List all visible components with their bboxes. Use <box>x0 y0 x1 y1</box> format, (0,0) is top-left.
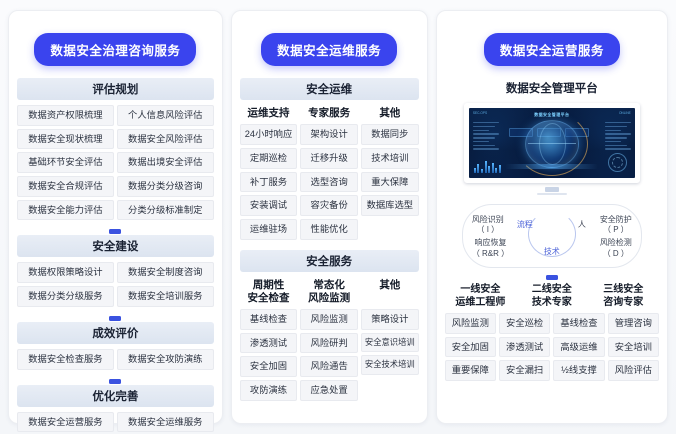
item-cell[interactable]: 架构设计 <box>300 124 358 145</box>
item-column: 数据同步 技术培训 重大保障 数据库选型 <box>361 124 419 216</box>
item-cell[interactable]: 安全巡检 <box>499 313 550 334</box>
item-column: 基线检查 渗透测试 安全加固 攻防演练 <box>240 309 298 401</box>
item-cell[interactable]: 安全培训 <box>608 337 659 358</box>
item-cell[interactable]: 基础环节安全评估 <box>17 152 114 173</box>
screen-bar-chart <box>474 159 501 173</box>
item-cell[interactable]: 数据分类分级咨询 <box>117 176 214 197</box>
item-cell[interactable]: 运维驻场 <box>240 219 298 240</box>
item-grid-security-construction: 数据权限策略设计 数据安全制度咨询 数据分类分级服务 数据安全培训服务 <box>17 262 214 306</box>
pdrr-response-recovery: 响应恢复 （ R&R ） <box>472 238 509 259</box>
team-tier-header: 二线安全 技术专家 <box>516 284 587 313</box>
item-cell[interactable]: 补丁服务 <box>240 172 298 193</box>
item-cell[interactable]: 重要保障 <box>445 360 496 381</box>
item-column: 管理咨询 安全培训 风险评估 <box>608 313 659 381</box>
pdrr-code: （ D ） <box>600 249 632 259</box>
screen-globe-icon <box>525 120 579 168</box>
panel-governance-consulting: 数据安全治理咨询服务 评估规划 数据资产权限梳理 个人信息风险评估 数据安全现状… <box>8 10 223 424</box>
item-cell[interactable]: 数据安全能力评估 <box>17 200 114 221</box>
item-cell[interactable]: 迁移升级 <box>300 148 358 169</box>
item-grid-security-services: 基线检查 渗透测试 安全加固 攻防演练 风险监测 风险研判 风险通告 应急处置 … <box>240 309 419 401</box>
pdrr-label: 安全防护 <box>600 215 632 224</box>
item-cell[interactable]: 数据安全制度咨询 <box>117 262 214 283</box>
screen-left-panels <box>473 122 499 150</box>
column-header: 常态化 风险监测 <box>300 277 358 309</box>
item-cell[interactable]: 性能优化 <box>300 219 358 240</box>
dashboard-screen: SEC-OPS ONLINE 数据安全管理平台 <box>469 108 635 178</box>
pdrr-label: 风险检测 <box>600 238 632 247</box>
pdrr-risk-identification: 风险识别 （ I ） <box>472 215 504 236</box>
item-column: 安全巡检 渗透测试 安全漏扫 <box>499 313 550 381</box>
item-cell[interactable]: ½线支撑 <box>553 360 604 381</box>
item-column: 24小时响应 定期巡检 补丁服务 安装调试 运维驻场 <box>240 124 298 239</box>
item-cell[interactable]: 策略设计 <box>361 309 419 330</box>
item-cell[interactable]: 基线检查 <box>553 313 604 334</box>
item-cell[interactable]: 安全加固 <box>240 356 298 377</box>
item-cell[interactable]: 安全漏扫 <box>499 360 550 381</box>
item-cell[interactable]: 数据分类分级服务 <box>17 286 114 307</box>
column-header: 其他 <box>361 277 419 296</box>
colheads-security-services: 周期性 安全检查 常态化 风险监测 其他 <box>240 277 419 309</box>
pdrr-process-label: 流程 <box>517 219 533 230</box>
item-cell[interactable]: 风险评估 <box>608 360 659 381</box>
item-cell[interactable]: 安装调试 <box>240 195 298 216</box>
panel-title-security-operations: 数据安全运营服务 <box>484 33 620 66</box>
panel-title-security-ops: 数据安全运维服务 <box>261 33 397 66</box>
item-cell[interactable]: 数据资产权限梳理 <box>17 105 114 126</box>
item-column: 基线检查 高级运维 ½线支撑 <box>553 313 604 381</box>
section-security-construction: 安全建设 数据权限策略设计 数据安全制度咨询 数据分类分级服务 数据安全培训服务 <box>17 224 214 306</box>
column-header: 周期性 安全检查 <box>240 277 298 309</box>
item-cell[interactable]: 安全意识培训 <box>361 333 419 353</box>
pdrr-protection: 安全防护 （ P ） <box>600 215 632 236</box>
monitor-stand <box>545 187 559 192</box>
screen-right-panels <box>605 122 631 150</box>
team-tier-header: 三线安全 咨询专家 <box>588 284 659 313</box>
pdrr-model-diagram: 风险识别 （ I ） 响应恢复 （ R&R ） 安全防护 （ P ） 风险检测 … <box>462 204 642 268</box>
item-cell[interactable]: 渗透测试 <box>499 337 550 358</box>
panel-title-governance: 数据安全治理咨询服务 <box>34 33 196 66</box>
group-security-maintenance: 安全运维 运维支持 专家服务 其他 24小时响应 定期巡检 补丁服务 安装调试 … <box>240 78 419 240</box>
screen-bottom-strip <box>505 164 598 169</box>
item-cell[interactable]: 数据库选型 <box>361 195 419 216</box>
platform-title: 数据安全管理平台 <box>506 80 598 96</box>
item-cell[interactable]: 数据安全运维服务 <box>117 412 214 433</box>
connector-marker-icon <box>546 275 558 280</box>
item-cell[interactable]: 选型咨询 <box>300 172 358 193</box>
monitor-base <box>537 193 567 195</box>
colheads-security-maintenance: 运维支持 专家服务 其他 <box>240 105 419 124</box>
pdrr-center-triangle: 流程 人 技术 <box>516 213 588 259</box>
item-grid-team-capabilities: 风险监测 安全加固 重要保障 安全巡检 渗透测试 安全漏扫 基线检查 高级运维 … <box>445 313 659 381</box>
item-cell[interactable]: 24小时响应 <box>240 124 298 145</box>
item-cell[interactable]: 数据安全检查服务 <box>17 349 114 370</box>
item-cell[interactable]: 风险通告 <box>300 356 358 377</box>
section-header-optimization: 优化完善 <box>17 385 214 407</box>
item-grid-assessment-planning: 数据资产权限梳理 个人信息风险评估 数据安全现状梳理 数据安全风险评估 基础环节… <box>17 105 214 220</box>
pdrr-label: 风险识别 <box>472 215 504 224</box>
column-header: 其他 <box>361 105 419 124</box>
connector-marker-icon <box>109 229 121 234</box>
item-cell[interactable]: 攻防演练 <box>240 380 298 401</box>
item-cell[interactable]: 重大保障 <box>361 172 419 193</box>
item-cell[interactable]: 风险研判 <box>300 333 358 354</box>
item-cell[interactable]: 个人信息风险评估 <box>117 105 214 126</box>
item-grid-effect-evaluation: 数据安全检查服务 数据安全攻防演练 <box>17 349 214 370</box>
connector-marker-icon <box>109 379 121 384</box>
item-column: 风险监测 风险研判 风险通告 应急处置 <box>300 309 358 401</box>
section-header-security-construction: 安全建设 <box>17 235 214 257</box>
column-header: 运维支持 <box>240 105 298 124</box>
group-header-security-services: 安全服务 <box>240 250 419 272</box>
pdrr-code: （ P ） <box>600 225 632 235</box>
pdrr-code: （ R&R ） <box>472 249 509 259</box>
item-column: 风险监测 安全加固 重要保障 <box>445 313 496 381</box>
team-tier-header: 一线安全 运维工程师 <box>445 284 516 313</box>
section-header-assessment-planning: 评估规划 <box>17 78 214 100</box>
panel-security-ops: 数据安全运维服务 安全运维 运维支持 专家服务 其他 24小时响应 定期巡检 补… <box>231 10 428 424</box>
item-cell[interactable]: 容灾备份 <box>300 195 358 216</box>
section-optimization: 优化完善 数据安全运营服务 数据安全运维服务 <box>17 374 214 433</box>
item-cell[interactable]: 数据出境安全评估 <box>117 152 214 173</box>
item-cell[interactable]: 技术培训 <box>361 148 419 169</box>
item-cell[interactable]: 风险监测 <box>445 313 496 334</box>
group-security-services: 安全服务 周期性 安全检查 常态化 风险监测 其他 基线检查 渗透测试 安全加固… <box>240 250 419 401</box>
pdrr-detection: 风险检测 （ D ） <box>600 238 632 259</box>
item-cell[interactable]: 数据安全现状梳理 <box>17 129 114 150</box>
pdrr-code: （ I ） <box>472 225 504 235</box>
item-cell[interactable]: 数据安全合规评估 <box>17 176 114 197</box>
item-cell[interactable]: 数据安全风险评估 <box>117 129 214 150</box>
item-grid-security-maintenance: 24小时响应 定期巡检 补丁服务 安装调试 运维驻场 架构设计 迁移升级 选型咨… <box>240 124 419 239</box>
section-assessment-planning: 评估规划 数据资产权限梳理 个人信息风险评估 数据安全现状梳理 数据安全风险评估… <box>17 78 214 220</box>
item-column: 架构设计 迁移升级 选型咨询 容灾备份 性能优化 <box>300 124 358 239</box>
item-cell[interactable]: 基线检查 <box>240 309 298 330</box>
screen-radar-icon <box>608 153 627 172</box>
group-header-security-maintenance: 安全运维 <box>240 78 419 100</box>
item-grid-optimization: 数据安全运营服务 数据安全运维服务 <box>17 412 214 433</box>
item-cell[interactable]: 高级运维 <box>553 337 604 358</box>
item-cell[interactable]: 应急处置 <box>300 380 358 401</box>
panel-security-operations: 数据安全运营服务 数据安全管理平台 SEC-OPS ONLINE 数据安全管理平… <box>436 10 668 424</box>
platform-monitor-image: SEC-OPS ONLINE 数据安全管理平台 <box>464 103 640 183</box>
column-header: 专家服务 <box>300 105 358 124</box>
item-cell[interactable]: 渗透测试 <box>240 333 298 354</box>
team-tier-headers: 一线安全 运维工程师 二线安全 技术专家 三线安全 咨询专家 <box>445 284 659 313</box>
section-effect-evaluation: 成效评价 数据安全检查服务 数据安全攻防演练 <box>17 311 214 370</box>
pdrr-label: 响应恢复 <box>474 238 506 247</box>
connector-marker-icon <box>109 316 121 321</box>
item-cell[interactable]: 管理咨询 <box>608 313 659 334</box>
section-header-effect-evaluation: 成效评价 <box>17 322 214 344</box>
item-cell[interactable]: 风险监测 <box>300 309 358 330</box>
item-cell[interactable]: 定期巡检 <box>240 148 298 169</box>
item-column: 策略设计 安全意识培训 安全技术培训 <box>361 309 419 375</box>
service-overview-board: 数据安全治理咨询服务 评估规划 数据资产权限梳理 个人信息风险评估 数据安全现状… <box>0 0 676 434</box>
item-cell[interactable]: 数据安全培训服务 <box>117 286 214 307</box>
item-cell[interactable]: 安全技术培训 <box>361 355 419 375</box>
item-cell[interactable]: 数据权限策略设计 <box>17 262 114 283</box>
item-cell[interactable]: 数据同步 <box>361 124 419 145</box>
item-cell[interactable]: 数据安全攻防演练 <box>117 349 214 370</box>
item-cell[interactable]: 分类分级标准制定 <box>117 200 214 221</box>
pdrr-people-label: 人 <box>578 219 586 230</box>
item-cell[interactable]: 数据安全运营服务 <box>17 412 114 433</box>
pdrr-technology-label: 技术 <box>544 246 560 257</box>
item-cell[interactable]: 安全加固 <box>445 337 496 358</box>
